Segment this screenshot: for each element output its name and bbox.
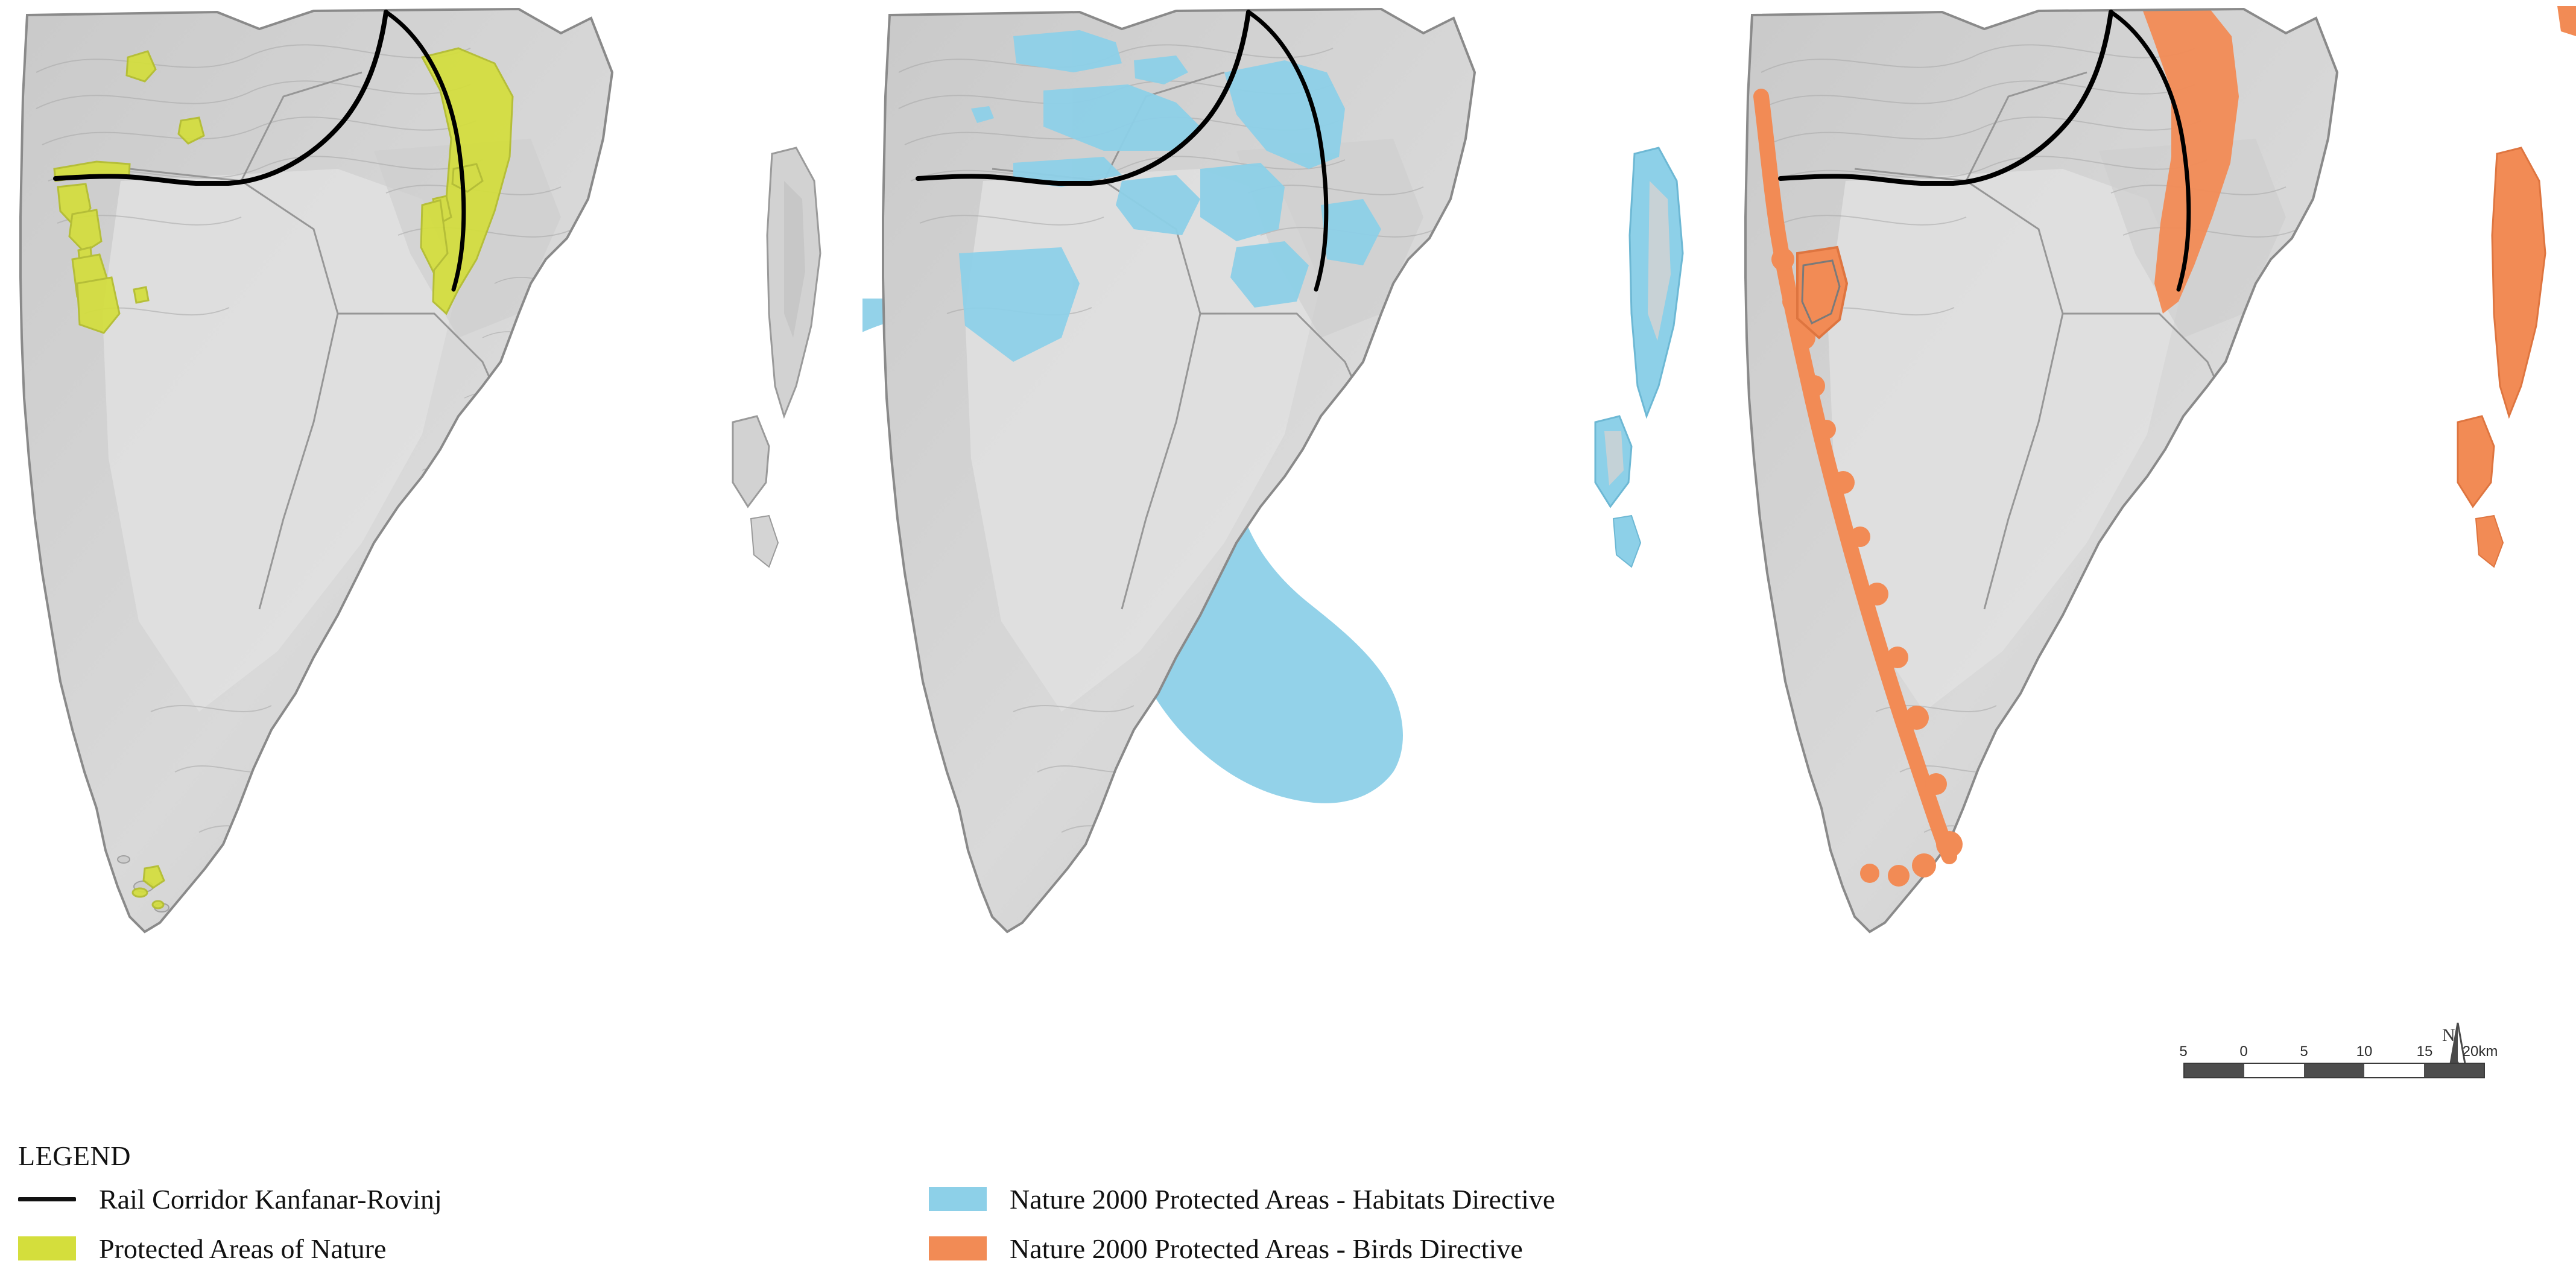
legend-item-rail-corridor: Rail Corridor Kanfanar-Rovinj [18, 1181, 442, 1217]
legend-label-protected-areas: Protected Areas of Nature [99, 1233, 386, 1265]
legend-label-birds-directive: Nature 2000 Protected Areas - Birds Dire… [1010, 1233, 1523, 1265]
terrain-body-b [862, 0, 1725, 1134]
scale-tick-4: 15 [2417, 1043, 2433, 1060]
legend-label-habitats-directive: Nature 2000 Protected Areas - Habitats D… [1010, 1183, 1555, 1215]
scale-and-north-group: N 5 0 5 10 15 20km [2183, 1025, 2509, 1116]
island-strip-c [2458, 148, 2545, 567]
scalebar-segment [2185, 1064, 2244, 1077]
scalebar-segment [2244, 1064, 2304, 1077]
scale-tick-5-unit: 20km [2463, 1043, 2498, 1060]
legend-title: LEGEND [18, 1140, 131, 1172]
legend-label-rail-corridor: Rail Corridor Kanfanar-Rovinj [99, 1183, 442, 1215]
island-strip-a [733, 148, 820, 567]
scale-tick-1: 0 [2239, 1043, 2247, 1060]
scale-tick-2: 5 [2300, 1043, 2308, 1060]
birds-directive-swatch [929, 1236, 987, 1260]
spa-sliver-c [2557, 6, 2576, 36]
scalebar-segment [2304, 1064, 2364, 1077]
terrain-basemap-c [1725, 0, 2576, 1134]
terrain-basemap-b [862, 0, 1725, 1134]
habitats-directive-swatch [929, 1187, 987, 1211]
legend: LEGEND Rail Corridor Kanfanar-Rovinj Pro… [0, 1134, 2576, 1284]
figure-canvas: N 5 0 5 10 15 20km [0, 0, 2576, 1284]
rail-corridor-line-swatch [18, 1187, 76, 1211]
island-strip-b [1595, 148, 1683, 567]
terrain-basemap-a [0, 0, 862, 1134]
scalebar-ticks: 5 0 5 10 15 20km [2183, 1043, 2485, 1060]
scale-tick-0: 5 [2179, 1043, 2187, 1060]
scale-tick-3: 10 [2356, 1043, 2373, 1060]
map-panel-protected-areas-of-nature [0, 0, 862, 1134]
scalebar-segment [2364, 1064, 2424, 1077]
protected-areas-swatch [18, 1236, 76, 1260]
north-arrow-label: N [2442, 1025, 2455, 1045]
legend-item-protected-areas: Protected Areas of Nature [18, 1230, 386, 1267]
legend-item-birds-directive: Nature 2000 Protected Areas - Birds Dire… [929, 1230, 1523, 1267]
map-panel-birds-directive: N 5 0 5 10 15 20km [1725, 0, 2576, 1134]
scalebar [2183, 1063, 2485, 1078]
scalebar-segment [2424, 1064, 2484, 1077]
map-panel-habitats-directive [862, 0, 1725, 1134]
legend-item-habitats-directive: Nature 2000 Protected Areas - Habitats D… [929, 1181, 1555, 1217]
